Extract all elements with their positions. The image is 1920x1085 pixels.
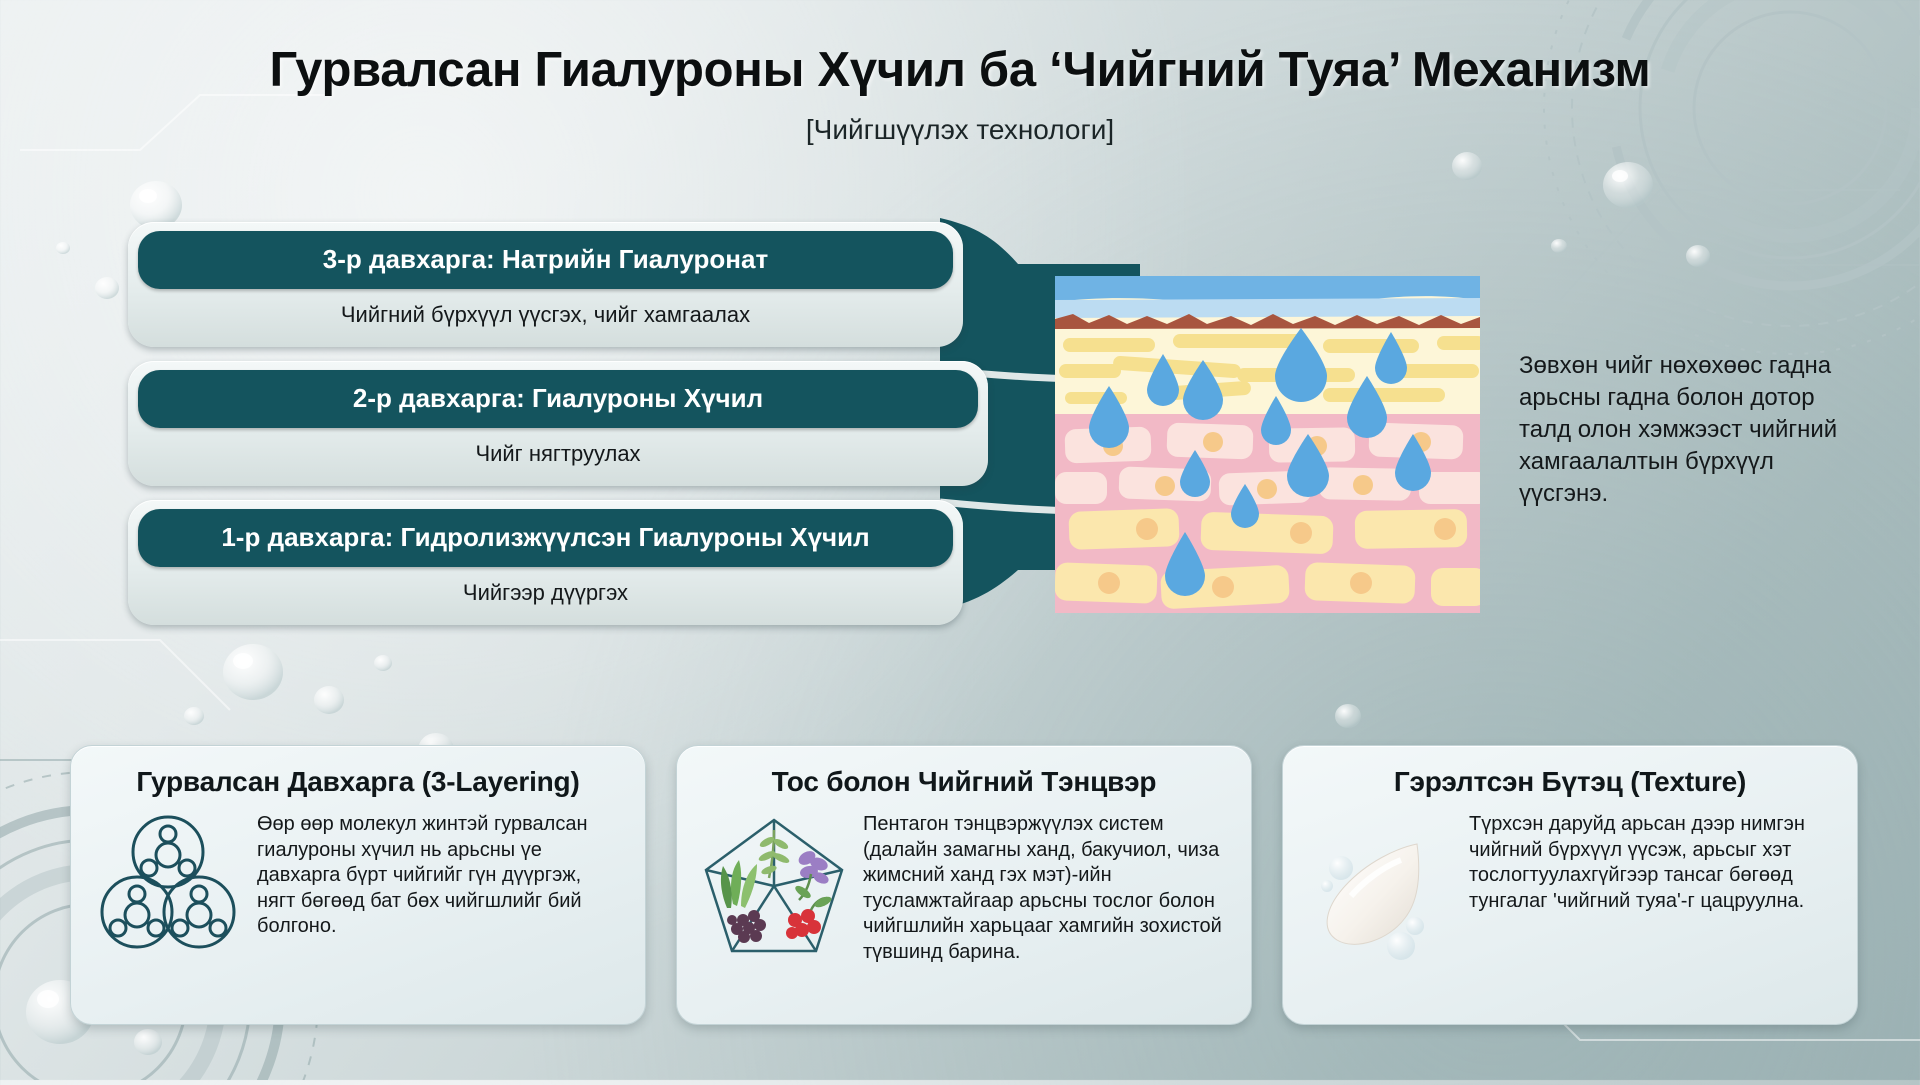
feature-cards: Гурвалсан Давхарга (3-Layering): [70, 745, 1860, 1025]
layer-3-title: 3-р давхарга: Натрийн Гиалуронат: [138, 231, 953, 289]
water-film: [1055, 298, 1480, 318]
molecule-cluster-icon: [93, 808, 243, 968]
layer-1-title: 1-р давхарга: Гидролизжүүлсэн Гиалуроны …: [138, 509, 953, 567]
diagram-note: Зөвхөн чийг нөхөхөөс гадна арьсны гадна …: [1519, 350, 1839, 510]
card-2-text: Пентагон тэнцвэржүүлэх систем (далайн за…: [863, 808, 1229, 966]
layer-card-2[interactable]: 2-р давхарга: Гиалуроны Хүчил Чийг нягтр…: [128, 361, 988, 486]
title-block: Гурвалсан Гиалуроны Хүчил ба ‘Чийгний Ту…: [0, 42, 1920, 146]
pentagon-botanical-icon: [699, 808, 849, 968]
skin-diagram: [1055, 276, 1480, 613]
layer-2-subtitle: Чийг нягтруулах: [138, 428, 978, 476]
card-1-text: Өөр өөр молекул жинтэй гурвалсан гиалуро…: [257, 808, 623, 940]
card-1-title: Гурвалсан Давхарга (3-Layering): [93, 766, 623, 798]
skin-cross-section-illustration: [1055, 276, 1480, 613]
layer-card-1[interactable]: 1-р давхарга: Гидролизжүүлсэн Гиалуроны …: [128, 500, 963, 625]
aloe-sprig: [721, 860, 757, 908]
dark-berry-cluster: [727, 910, 766, 943]
layer-2-title: 2-р давхарга: Гиалуроны Хүчил: [138, 370, 978, 428]
feature-card-oil-moisture-balance[interactable]: Тос болон Чийгний Тэнцвэр: [676, 745, 1252, 1025]
card-3-title: Гэрэлтсэн Бүтэц (Texture): [1305, 766, 1835, 798]
card-2-title: Тос болон Чийгний Тэнцвэр: [699, 766, 1229, 798]
cream-swatch-icon: [1305, 808, 1455, 968]
layer-1-subtitle: Чийгээр дүүргэх: [138, 567, 953, 615]
card-3-text: Түрхсэн даруйд арьсан дээр нимгэн чийгни…: [1469, 808, 1835, 914]
feature-card-3-layering[interactable]: Гурвалсан Давхарга (3-Layering): [70, 745, 646, 1025]
page-title: Гурвалсан Гиалуроны Хүчил ба ‘Чийгний Ту…: [0, 42, 1920, 98]
layer-3-subtitle: Чийгний бүрхүүл үүсгэх, чийг хамгаалах: [138, 289, 953, 337]
herb-sprig: [757, 830, 790, 878]
page-subtitle: [Чийгшүүлэх технологи]: [0, 114, 1920, 146]
layer-stack: 3-р давхарга: Натрийн Гиалуронат Чийгний…: [128, 222, 968, 639]
layer-card-3[interactable]: 3-р давхарга: Натрийн Гиалуронат Чийгний…: [128, 222, 963, 347]
feature-card-texture[interactable]: Гэрэлтсэн Бүтэц (Texture): [1282, 745, 1858, 1025]
